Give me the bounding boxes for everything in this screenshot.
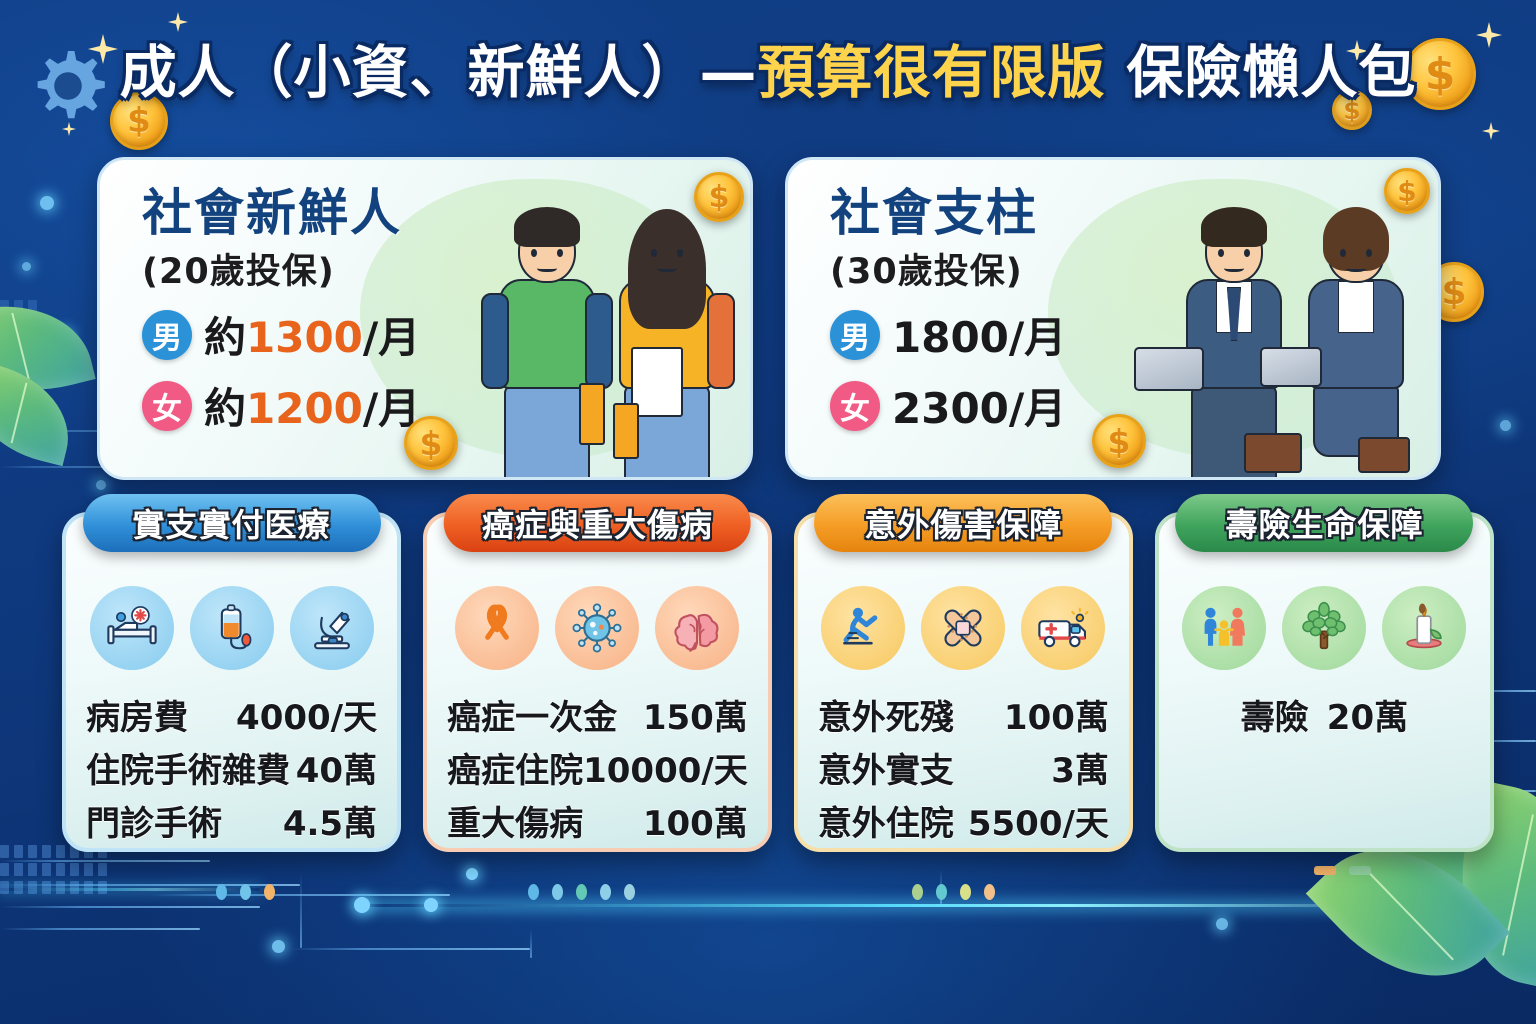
decor-dot-row	[528, 884, 635, 900]
sparkle-icon	[1482, 122, 1500, 140]
student-male-figure	[487, 197, 607, 477]
figure-hair	[1201, 207, 1267, 247]
benefit-line: 意外死殘 100萬	[818, 690, 1109, 739]
circuit-trace	[0, 906, 260, 908]
rate-amount: 2300	[892, 384, 1009, 433]
persona-name: 社會新鮮人	[142, 186, 464, 241]
laptop-icon	[1260, 347, 1322, 387]
benefit-line: 重大傷病 100萬	[447, 796, 748, 845]
figure-hair	[1323, 207, 1389, 271]
decor-dot-row	[912, 884, 995, 900]
sparkle-icon	[168, 12, 188, 32]
benefit-icon-strip	[90, 586, 374, 670]
benefit-value: 20萬	[1327, 690, 1408, 739]
laptop-icon	[1134, 347, 1204, 391]
figure-smile	[1346, 263, 1366, 272]
dress-shirt	[1338, 281, 1374, 333]
figure-legs	[504, 385, 590, 480]
benefit-value: 40萬	[296, 743, 377, 792]
circuit-node	[354, 897, 370, 913]
figure-eye	[1340, 249, 1346, 257]
benefit-card-title: 癌症與重大傷病	[444, 494, 751, 552]
gender-badge-female: 女	[830, 381, 880, 431]
circuit-trace	[0, 928, 200, 930]
benefit-card-title: 實支實付医療	[83, 494, 381, 552]
leaf-icon	[0, 286, 96, 411]
benefit-label: 病房費	[86, 690, 188, 739]
figure-eye	[1218, 249, 1224, 257]
backpack-icon	[481, 293, 509, 389]
benefit-value: 4.5萬	[283, 796, 377, 845]
rate-prefix: 約	[204, 313, 246, 362]
benefit-label: 意外住院	[818, 796, 954, 845]
persona-text-block: 社會新鮮人 (20歲投保) 男 約1300/月 女 約1200/月	[100, 160, 464, 477]
benefit-line: 病房費 4000/天	[86, 690, 377, 739]
circuit-trace	[530, 930, 532, 958]
benefit-card-title: 壽險生命保障	[1175, 494, 1473, 552]
decor-dot-row	[1314, 866, 1371, 875]
benefit-card-title: 意外傷害保障	[814, 494, 1112, 552]
benefit-icon-strip	[1182, 586, 1466, 670]
leaf-icon	[0, 360, 82, 466]
persona-card-breadwinner[interactable]: 社會支柱 (30歲投保) 男 1800/月 女 2300/月	[785, 157, 1441, 480]
iv-drip-icon	[190, 586, 274, 670]
benefit-label: 癌症一次金	[447, 690, 617, 739]
title-part-1: 成人（小資、新鮮人）—	[120, 40, 758, 106]
benefit-value: 100萬	[643, 796, 748, 845]
rate-row-female: 女 約1200/月	[142, 375, 464, 436]
benefit-label: 門診手術	[86, 796, 222, 845]
circuit-node	[1500, 420, 1511, 431]
figure-eye	[1244, 249, 1250, 257]
rate-value-male: 約1300/月	[204, 304, 420, 365]
title-highlight: 預算很有限版	[758, 40, 1106, 106]
circuit-node	[96, 480, 106, 490]
circuit-node	[60, 330, 71, 341]
benefit-icon-strip	[455, 586, 739, 670]
rate-suffix: /月	[363, 384, 420, 433]
circuit-trace	[0, 860, 210, 862]
benefit-value: 5500/天	[968, 796, 1109, 845]
backpack-icon	[707, 293, 735, 389]
benefit-card-life[interactable]: 壽險生命保障	[1155, 512, 1494, 852]
figure-eye	[531, 249, 537, 257]
figure-hair	[514, 207, 580, 247]
figure-eye	[557, 249, 563, 257]
benefit-label: 意外實支	[818, 743, 954, 792]
circuit-node	[1340, 878, 1353, 891]
benefit-line-list: 壽險 20萬	[1173, 690, 1476, 739]
candle-memorial-icon	[1382, 586, 1466, 670]
rate-amount: 1800	[892, 313, 1009, 362]
persona-text-block: 社會支柱 (30歲投保) 男 1800/月 女 2300/月	[788, 160, 1152, 477]
rate-row-male: 男 1800/月	[830, 304, 1152, 365]
book-icon	[613, 403, 639, 459]
benefit-value: 100萬	[1004, 690, 1109, 739]
bandage-icon	[921, 586, 1005, 670]
title-part-2: 保險懶人包	[1106, 40, 1417, 106]
figure-eye	[677, 249, 683, 257]
circuit-node	[40, 196, 54, 210]
rate-suffix: /月	[1009, 384, 1066, 433]
benefit-icon-strip	[821, 586, 1105, 670]
pixel-grid-left	[0, 845, 107, 894]
benefit-line: 意外住院 5500/天	[818, 796, 1109, 845]
brain-icon	[655, 586, 739, 670]
figure-smile	[1224, 263, 1244, 272]
pixel-grid-topleft	[0, 300, 37, 349]
benefit-card-medical[interactable]: 實支實付医療	[62, 512, 401, 852]
benefit-label: 住院手術雜費	[86, 743, 290, 792]
benefit-value: 3萬	[1051, 743, 1109, 792]
figure-smile	[657, 263, 677, 272]
rate-prefix: 約	[204, 384, 246, 433]
circuit-trace	[290, 948, 530, 950]
benefit-line: 門診手術 4.5萬	[86, 796, 377, 845]
benefit-line: 壽險 20萬	[1179, 690, 1470, 739]
rate-row-male: 男 約1300/月	[142, 304, 464, 365]
rate-value-male: 1800/月	[892, 304, 1066, 365]
circuit-node	[272, 940, 285, 953]
virus-cell-icon	[555, 586, 639, 670]
briefcase-icon	[1244, 433, 1302, 473]
infographic-canvas: $ $ $ $ $ $ $ $ 成人（小資、新鮮人）—預算很有限版 保險懶人包 …	[0, 0, 1536, 1024]
circuit-trace	[300, 872, 302, 948]
glow-beam	[360, 904, 1536, 907]
circuit-trace	[150, 894, 450, 896]
figure-eye	[651, 249, 657, 257]
benefit-line: 住院手術雜費 40萬	[86, 743, 377, 792]
rate-value-female: 2300/月	[892, 375, 1066, 436]
backpack-icon	[585, 293, 613, 389]
circuit-node	[1216, 918, 1228, 930]
gender-badge-male: 男	[142, 310, 192, 360]
benefit-line: 癌症一次金 150萬	[447, 690, 748, 739]
persona-illustration-students	[464, 160, 750, 477]
rate-suffix: /月	[363, 313, 420, 362]
benefit-value: 10000/天	[583, 743, 748, 792]
benefit-card-cancer[interactable]: 癌症與重大傷病	[423, 512, 772, 852]
persona-illustration-professionals	[1152, 160, 1438, 477]
benefit-line-list: 病房費 4000/天 住院手術雜費 40萬 門診手術 4.5萬	[80, 690, 383, 845]
benefit-line: 癌症住院 10000/天	[447, 743, 748, 792]
professional-female-figure	[1296, 197, 1416, 477]
gender-badge-male: 男	[830, 310, 880, 360]
circuit-node	[466, 868, 478, 880]
student-female-figure	[607, 197, 727, 477]
professional-male-figure	[1174, 197, 1294, 477]
sparkle-icon	[62, 122, 76, 136]
microscope-icon	[290, 586, 374, 670]
circuit-node	[424, 898, 438, 912]
benefit-value: 150萬	[643, 690, 748, 739]
figure-eye	[1366, 249, 1372, 257]
benefit-line-list: 意外死殘 100萬 意外實支 3萬 意外住院 5500/天	[812, 690, 1115, 845]
benefit-card-accident[interactable]: 意外傷害保障	[794, 512, 1133, 852]
benefit-label: 意外死殘	[818, 690, 954, 739]
gender-badge-female: 女	[142, 381, 192, 431]
persona-card-fresh-graduate[interactable]: 社會新鮮人 (20歲投保) 男 約1300/月 女 約1200/月	[97, 157, 753, 480]
page-title: 成人（小資、新鮮人）—預算很有限版 保險懶人包	[0, 44, 1536, 104]
persona-card-row: 社會新鮮人 (20歲投保) 男 約1300/月 女 約1200/月	[97, 157, 1441, 480]
awareness-ribbon-icon	[455, 586, 539, 670]
circuit-node	[22, 262, 31, 271]
family-icon	[1182, 586, 1266, 670]
benefit-line: 意外實支 3萬	[818, 743, 1109, 792]
persona-subtitle: (20歲投保)	[142, 243, 464, 294]
persona-subtitle: (30歲投保)	[830, 243, 1152, 294]
benefit-line-list: 癌症一次金 150萬 癌症住院 10000/天 重大傷病 100萬	[441, 690, 754, 845]
benefit-label: 重大傷病	[447, 796, 583, 845]
ambulance-icon	[1021, 586, 1105, 670]
rate-suffix: /月	[1009, 313, 1066, 362]
rate-row-female: 女 2300/月	[830, 375, 1152, 436]
briefcase-icon	[1358, 437, 1410, 473]
benefit-label: 壽險	[1241, 690, 1309, 739]
benefit-card-row: 實支實付医療	[62, 512, 1494, 852]
hospital-bed-icon	[90, 586, 174, 670]
figure-smile	[537, 263, 557, 272]
slip-fall-icon	[821, 586, 905, 670]
circuit-trace	[0, 466, 110, 468]
rate-amount: 1300	[246, 313, 363, 362]
book-icon	[579, 383, 605, 445]
rate-amount: 1200	[246, 384, 363, 433]
benefit-value: 4000/天	[236, 690, 377, 739]
decor-dot-row	[216, 884, 275, 900]
persona-name: 社會支柱	[830, 186, 1152, 241]
rate-value-female: 約1200/月	[204, 375, 420, 436]
tree-icon	[1282, 586, 1366, 670]
benefit-label: 癌症住院	[447, 743, 583, 792]
figure-body	[499, 279, 595, 389]
